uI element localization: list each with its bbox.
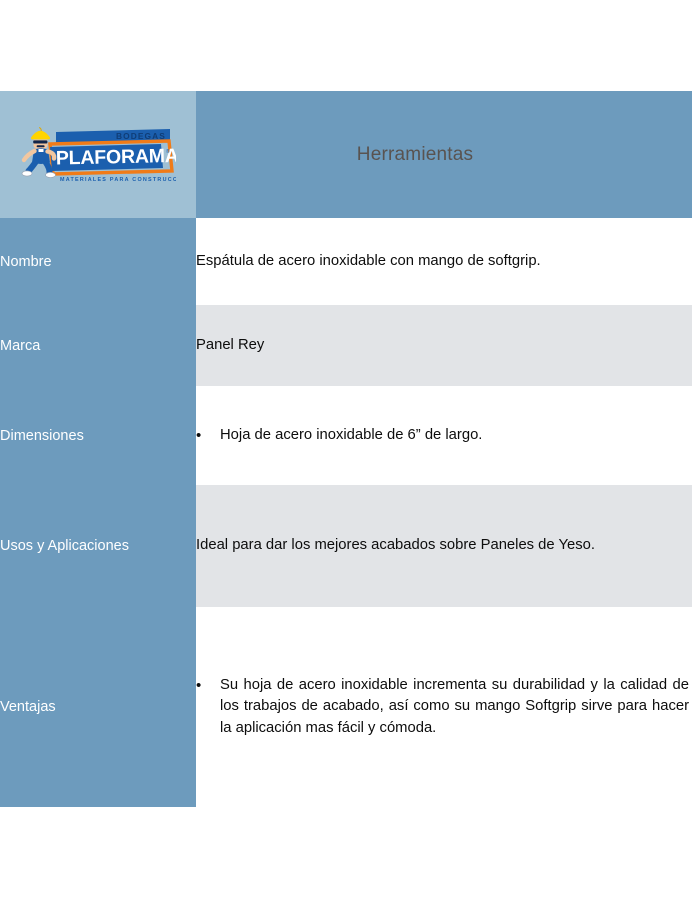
row-label-usos-y-aplicaciones: Usos y Aplicaciones (0, 485, 196, 607)
table-row: Ventajas • Su hoja de acero inoxidable i… (0, 607, 692, 807)
bullet-point-icon: • (196, 425, 220, 447)
row-value-ventajas: • Su hoja de acero inoxidable incrementa… (196, 607, 692, 807)
svg-text:PLAFORAMA: PLAFORAMA (56, 144, 176, 169)
row-value-marca: Panel Rey (196, 305, 692, 386)
table-row: Marca Panel Rey (0, 305, 692, 386)
row-value-text: Hoja de acero inoxidable de 6” de largo. (220, 425, 692, 447)
bullet-point-icon: • (196, 675, 220, 739)
svg-text:®: ® (166, 148, 170, 155)
bullet-list-item: • Su hoja de acero inoxidable incrementa… (196, 675, 692, 739)
row-value-text: Panel Rey (196, 335, 692, 356)
table-row: Nombre Espátula de acero inoxidable con … (0, 218, 692, 305)
table-header-row: BODEGAS PLAFORAMA ® MATERIALES PARA CONS… (0, 91, 692, 218)
row-value-text: Ideal para dar los mejores acabados sobr… (196, 535, 692, 556)
row-label-marca: Marca (0, 305, 196, 386)
plaforama-logo: BODEGAS PLAFORAMA ® MATERIALES PARA CONS… (20, 125, 176, 185)
worker-figure (22, 127, 56, 177)
svg-text:MATERIALES PARA CONSTRUCCION: MATERIALES PARA CONSTRUCCION (60, 177, 176, 183)
row-label-dimensiones: Dimensiones (0, 386, 196, 485)
row-value-text: Espátula de acero inoxidable con mango d… (196, 251, 692, 272)
table-row: Dimensiones • Hoja de acero inoxidable d… (0, 386, 692, 485)
row-label-nombre: Nombre (0, 218, 196, 305)
page-title: Herramientas (196, 144, 692, 166)
bullet-list-item: • Hoja de acero inoxidable de 6” de larg… (196, 425, 692, 447)
row-value-text: Su hoja de acero inoxidable incrementa s… (220, 675, 692, 739)
product-spec-sheet: BODEGAS PLAFORAMA ® MATERIALES PARA CONS… (0, 0, 700, 903)
row-value-usos-y-aplicaciones: Ideal para dar los mejores acabados sobr… (196, 485, 692, 607)
product-spec-table: BODEGAS PLAFORAMA ® MATERIALES PARA CONS… (0, 91, 692, 807)
row-label-ventajas: Ventajas (0, 607, 196, 807)
table-row: Usos y Aplicaciones Ideal para dar los m… (0, 485, 692, 607)
logo-cell: BODEGAS PLAFORAMA ® MATERIALES PARA CONS… (0, 91, 196, 218)
plaforama-logo-svg: BODEGAS PLAFORAMA ® MATERIALES PARA CONS… (20, 125, 176, 185)
header-title-cell: Herramientas (196, 91, 692, 218)
row-value-nombre: Espátula de acero inoxidable con mango d… (196, 218, 692, 305)
row-value-dimensiones: • Hoja de acero inoxidable de 6” de larg… (196, 386, 692, 485)
